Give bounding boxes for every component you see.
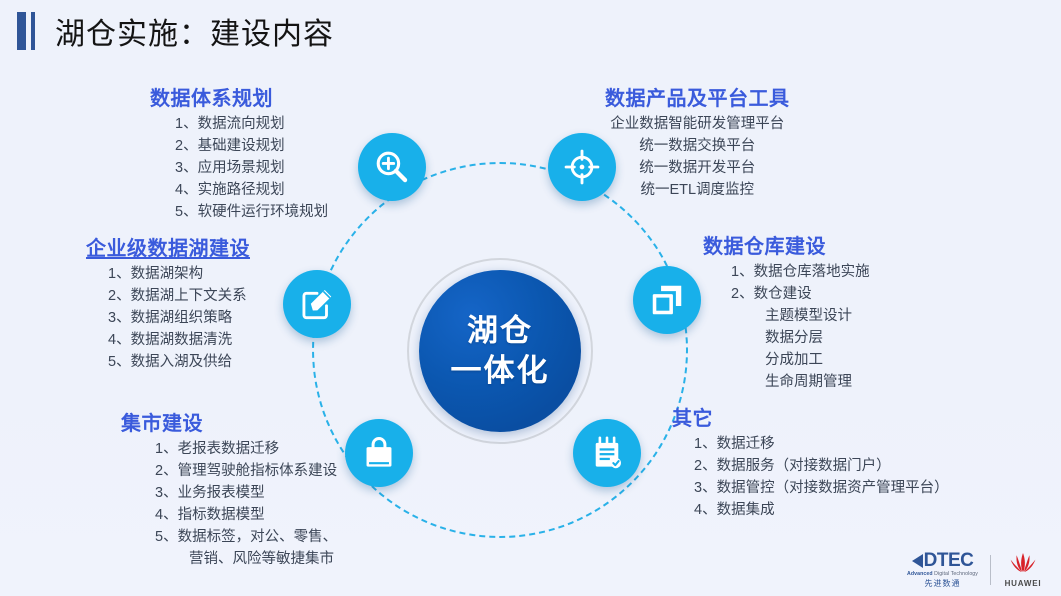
block-data-system-planning: 数据体系规划 1、数据流向规划 2、基础建设规划 3、应用场景规划 4、实施路径… xyxy=(150,82,328,223)
block-list: 1、数据流向规划 2、基础建设规划 3、应用场景规划 4、实施路径规划 5、软硬… xyxy=(150,113,328,223)
crosshair-target-icon xyxy=(563,148,601,186)
list-item: 1、数据迁移 xyxy=(694,433,949,455)
block-heading: 数据仓库建设 xyxy=(703,230,870,259)
diagram-canvas: 湖仓 一体化 xyxy=(0,62,1061,596)
edit-pencil-square-icon xyxy=(298,285,336,323)
block-enterprise-data-lake: 企业级数据湖建设 1、数据湖架构 2、数据湖上下文关系 3、数据湖组织策略 4、… xyxy=(86,232,250,373)
dtec-logo: DTEC Advanced Digital Technology 先进数通 xyxy=(907,551,978,587)
list-item: 1、数据湖架构 xyxy=(108,263,250,285)
dtec-tagline-bold: Advanced xyxy=(907,571,933,577)
list-item: 数据分层 xyxy=(731,327,870,349)
list-item: 分成加工 xyxy=(731,349,870,371)
list-item: 5、数据入湖及供给 xyxy=(108,351,250,373)
title-bar: 湖仓实施：建设内容 xyxy=(0,0,1061,62)
list-item: 1、老报表数据迁移 xyxy=(155,438,337,460)
center-hub-line2: 一体化 xyxy=(451,351,550,391)
list-item: 4、数据集成 xyxy=(694,499,949,521)
icon-bubble-others[interactable] xyxy=(573,419,641,487)
block-others: 其它 1、数据迁移 2、数据服务（对接数据门户） 3、数据管控（对接数据资产管理… xyxy=(672,402,949,521)
block-heading: 集市建设 xyxy=(121,407,337,436)
icon-bubble-enterprise-data-lake[interactable] xyxy=(283,270,351,338)
dtec-tagline-rest: Digital Technology xyxy=(933,571,978,577)
icon-bubble-data-system-planning[interactable] xyxy=(358,133,426,201)
list-item: 2、基础建设规划 xyxy=(175,135,328,157)
huawei-word: HUAWEI xyxy=(1005,579,1042,588)
huawei-flower-icon xyxy=(1003,551,1043,577)
block-list: 企业数据智能研发管理平台 统一数据交换平台 统一数据开发平台 统一ETL调度监控 xyxy=(605,113,790,201)
dtec-arrow-icon xyxy=(912,554,923,568)
block-list: 1、数据迁移 2、数据服务（对接数据门户） 3、数据管控（对接数据资产管理平台）… xyxy=(672,433,949,521)
list-item: 统一数据交换平台 xyxy=(605,135,790,157)
list-item: 统一数据开发平台 xyxy=(605,157,790,179)
list-item: 3、应用场景规划 xyxy=(175,157,328,179)
accent-bar-thick xyxy=(17,12,26,50)
dtec-wordmark: DTEC xyxy=(912,551,974,570)
icon-bubble-data-warehouse[interactable] xyxy=(633,266,701,334)
dtec-word: DTEC xyxy=(924,551,974,570)
block-list: 1、数据湖架构 2、数据湖上下文关系 3、数据湖组织策略 4、数据湖数据清洗 5… xyxy=(86,263,250,373)
list-item: 5、软硬件运行环境规划 xyxy=(175,201,328,223)
block-data-products-platform: 数据产品及平台工具 企业数据智能研发管理平台 统一数据交换平台 统一数据开发平台… xyxy=(605,82,790,201)
list-item: 3、数据管控（对接数据资产管理平台） xyxy=(694,477,949,499)
accent-bar-thin xyxy=(31,12,35,50)
block-data-warehouse: 数据仓库建设 1、数据仓库落地实施 2、数仓建设 主题模型设计 数据分层 分成加… xyxy=(703,230,870,393)
page-title: 湖仓实施：建设内容 xyxy=(55,9,334,53)
list-item: 1、数据仓库落地实施 xyxy=(731,261,870,283)
title-accent-bars xyxy=(17,12,35,50)
list-item: 1、数据流向规划 xyxy=(175,113,328,135)
block-heading: 其它 xyxy=(672,402,949,431)
dtec-chinese-name: 先进数通 xyxy=(925,580,961,588)
list-item: 4、指标数据模型 xyxy=(155,504,337,526)
logo-divider xyxy=(990,555,991,585)
block-heading: 企业级数据湖建设 xyxy=(86,232,250,261)
block-data-mart: 集市建设 1、老报表数据迁移 2、管理驾驶舱指标体系建设 3、业务报表模型 4、… xyxy=(121,407,337,570)
list-item: 营销、风险等敏捷集市 xyxy=(155,548,337,570)
list-item: 2、数据湖上下文关系 xyxy=(108,285,250,307)
copy-layers-icon xyxy=(648,281,686,319)
magnifier-plus-icon xyxy=(373,148,411,186)
list-item: 企业数据智能研发管理平台 xyxy=(605,113,790,135)
list-item: 2、数据服务（对接数据门户） xyxy=(694,455,949,477)
logo-area: DTEC Advanced Digital Technology 先进数通 HU… xyxy=(907,551,1043,588)
huawei-logo: HUAWEI xyxy=(1003,551,1043,588)
list-item: 2、数仓建设 xyxy=(731,283,870,305)
list-item: 3、数据湖组织策略 xyxy=(108,307,250,329)
dtec-tagline: Advanced Digital Technology xyxy=(907,572,978,577)
shopping-bag-icon xyxy=(360,434,398,472)
center-hub-line1: 湖仓 xyxy=(467,311,533,351)
block-list: 1、数据仓库落地实施 2、数仓建设 主题模型设计 数据分层 分成加工 生命周期管… xyxy=(703,261,870,393)
list-item: 2、管理驾驶舱指标体系建设 xyxy=(155,460,337,482)
list-item: 主题模型设计 xyxy=(731,305,870,327)
list-item: 统一ETL调度监控 xyxy=(605,179,790,201)
list-item: 3、业务报表模型 xyxy=(155,482,337,504)
block-list: 1、老报表数据迁移 2、管理驾驶舱指标体系建设 3、业务报表模型 4、指标数据模… xyxy=(121,438,337,570)
slide-root: 湖仓实施：建设内容 湖仓 一体化 xyxy=(0,0,1061,596)
block-heading: 数据产品及平台工具 xyxy=(605,82,790,111)
list-item: 4、实施路径规划 xyxy=(175,179,328,201)
notepad-check-icon xyxy=(588,434,626,472)
list-item: 5、数据标签，对公、零售、 xyxy=(155,526,337,548)
icon-bubble-data-products-platform[interactable] xyxy=(548,133,616,201)
list-item: 生命周期管理 xyxy=(731,371,870,393)
center-hub: 湖仓 一体化 xyxy=(419,270,581,432)
icon-bubble-data-mart[interactable] xyxy=(345,419,413,487)
block-heading: 数据体系规划 xyxy=(150,82,328,111)
list-item: 4、数据湖数据清洗 xyxy=(108,329,250,351)
